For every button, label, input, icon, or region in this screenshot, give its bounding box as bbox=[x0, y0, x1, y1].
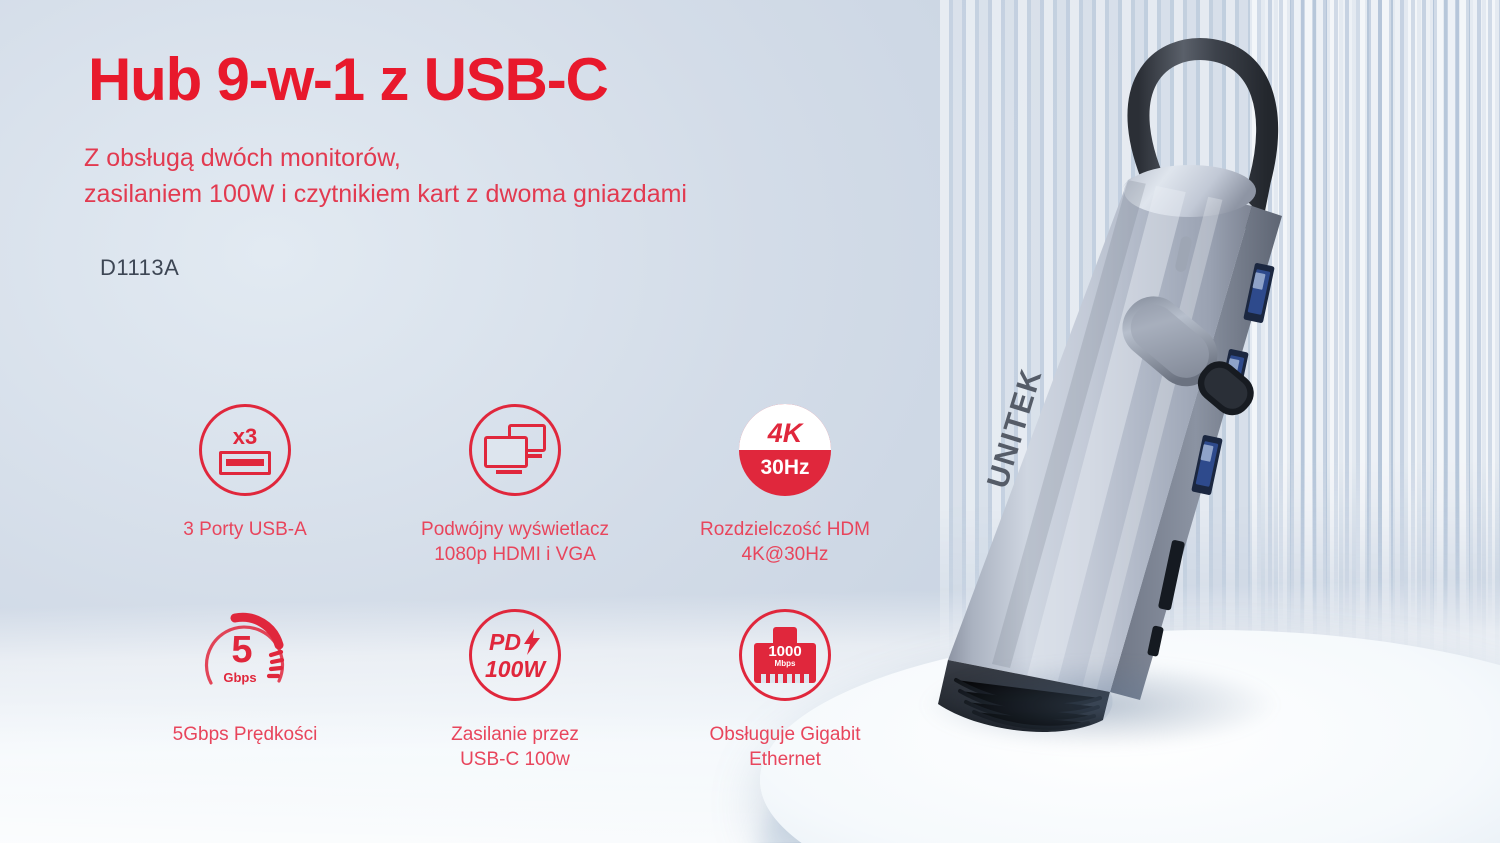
product-banner: Hub 9-w-1 z USB-C Z obsługą dwóch monito… bbox=[0, 0, 1500, 843]
feature-grid: x3 3 Porty USB-A Podwójny wyświetlacz 10… bbox=[110, 398, 920, 808]
model-number: D1113A bbox=[100, 255, 179, 281]
icon-circle: x3 bbox=[199, 404, 291, 496]
refresh-rate-value: 30Hz bbox=[760, 450, 809, 478]
device-body: UNITEK bbox=[938, 165, 1282, 732]
dual-monitor-glyph bbox=[484, 424, 546, 476]
feature-label: Podwójny wyświetlacz 1080p HDMI i VGA bbox=[421, 518, 609, 567]
ethernet-speed-value: 1000 bbox=[754, 644, 816, 659]
feature-item-dual-display: Podwójny wyświetlacz 1080p HDMI i VGA bbox=[380, 398, 650, 603]
dual-display-icon bbox=[469, 398, 561, 502]
page-subtitle: Z obsługą dwóch monitorów, zasilaniem 10… bbox=[84, 140, 687, 213]
gigabit-ethernet-icon: 1000 Mbps bbox=[739, 603, 831, 707]
icon-circle: 1000 Mbps bbox=[739, 609, 831, 701]
feature-label: Zasilanie przez USB-C 100w bbox=[451, 723, 579, 772]
usb-a-ports-icon: x3 bbox=[199, 398, 291, 502]
lightning-bolt-icon bbox=[523, 629, 541, 655]
speed-unit: Gbps bbox=[195, 671, 285, 684]
feature-label: 5Gbps Prędkości bbox=[173, 723, 318, 748]
resolution-badge: 4K 30Hz bbox=[739, 404, 831, 496]
usb-a-port-glyph bbox=[219, 451, 271, 475]
feature-item-usb-a: x3 3 Porty USB-A bbox=[110, 398, 380, 603]
feature-label: 3 Porty USB-A bbox=[183, 518, 307, 543]
feature-item-speed: 5 Gbps 5Gbps Prędkości bbox=[110, 603, 380, 808]
pd-row: PD bbox=[489, 629, 541, 655]
resolution-4k-icon: 4K 30Hz bbox=[739, 398, 831, 502]
ethernet-speed-unit: Mbps bbox=[754, 660, 816, 668]
product-drop-shadow bbox=[920, 660, 1280, 750]
rj45-connector-glyph: 1000 Mbps bbox=[754, 627, 816, 683]
speed-value: 5 bbox=[195, 631, 289, 669]
feature-item-power-delivery: PD 100W Zasilanie przez USB-C 100w bbox=[380, 603, 650, 808]
feature-label: Rozdzielczość HDM 4K@30Hz bbox=[700, 518, 870, 567]
feature-label: Obsługuje Gigabit Ethernet bbox=[709, 723, 860, 772]
icon-circle bbox=[469, 404, 561, 496]
usb-a-count-label: x3 bbox=[233, 426, 257, 448]
pd-label: PD bbox=[489, 631, 521, 654]
badge-top-half: 4K bbox=[739, 404, 831, 450]
speed-gauge-icon: 5 Gbps bbox=[195, 603, 295, 707]
icon-circle: PD 100W bbox=[469, 609, 561, 701]
speed-gauge-glyph: 5 Gbps bbox=[195, 605, 295, 705]
power-delivery-icon: PD 100W bbox=[469, 603, 561, 707]
monitor-front-glyph bbox=[484, 436, 528, 468]
badge-bottom-half: 30Hz bbox=[739, 450, 831, 496]
rj45-pins bbox=[761, 674, 809, 683]
resolution-value: 4K bbox=[768, 420, 803, 450]
page-title: Hub 9-w-1 z USB-C bbox=[88, 48, 608, 111]
pd-watt-label: 100W bbox=[485, 658, 545, 681]
usb-c-hub-device: UNITEK bbox=[860, 20, 1500, 810]
